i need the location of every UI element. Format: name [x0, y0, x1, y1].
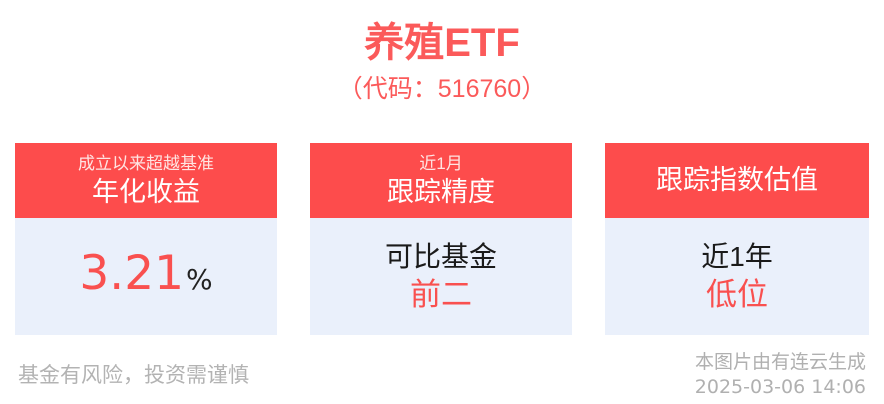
metric-card-index-valuation: 跟踪指数估值 近1年 低位	[605, 143, 869, 335]
card-header-annualized-return: 成立以来超越基准 年化收益	[15, 143, 277, 218]
metric-card-annualized-return: 成立以来超越基准 年化收益 3.21 %	[15, 143, 277, 335]
metric-line-primary: 可比基金	[385, 239, 497, 275]
page-header: 养殖ETF （代码：516760）	[0, 0, 884, 125]
credit-timestamp: 2025-03-06 14:06	[695, 375, 866, 400]
page-title: 养殖ETF	[0, 0, 884, 66]
metric-value-unit: %	[186, 254, 213, 306]
card-header-title: 跟踪精度	[387, 176, 495, 209]
metric-card-tracking-accuracy: 近1月 跟踪精度 可比基金 前二	[310, 143, 572, 335]
fund-code: （代码：516760）	[0, 66, 884, 104]
generation-credit: 本图片由有连云生成 2025-03-06 14:06	[695, 350, 866, 400]
page-footer: 基金有风险，投资需谨慎 本图片由有连云生成 2025-03-06 14:06	[0, 344, 884, 404]
metric-card-list: 成立以来超越基准 年化收益 3.21 % 近1月 跟踪精度 可比基金 前二 跟踪…	[15, 143, 869, 335]
card-header-title: 跟踪指数估值	[656, 164, 818, 197]
metric-line-highlight: 低位	[706, 275, 768, 315]
card-header-subtitle: 成立以来超越基准	[78, 153, 214, 174]
metric-line-primary: 近1年	[701, 239, 773, 275]
credit-source: 本图片由有连云生成	[695, 350, 866, 375]
card-header-subtitle: 近1月	[419, 153, 462, 174]
risk-disclaimer: 基金有风险，投资需谨慎	[18, 362, 249, 390]
card-header-index-valuation: 跟踪指数估值	[605, 143, 869, 218]
card-body-annualized-return: 3.21 %	[15, 218, 277, 335]
metric-line-highlight: 前二	[410, 275, 472, 315]
card-body-index-valuation: 近1年 低位	[605, 218, 869, 335]
card-header-tracking-accuracy: 近1月 跟踪精度	[310, 143, 572, 218]
metric-value-number: 3.21	[79, 248, 184, 300]
card-header-title: 年化收益	[92, 176, 200, 209]
metric-value-row: 3.21 %	[79, 248, 212, 306]
card-body-tracking-accuracy: 可比基金 前二	[310, 218, 572, 335]
